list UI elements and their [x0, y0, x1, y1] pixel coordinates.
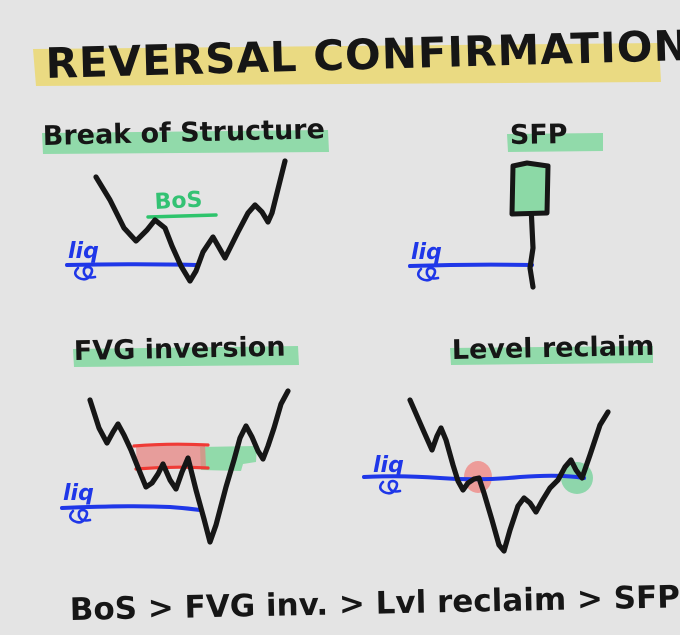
- ranking-text: BoS > FVG inv. > Lvl reclaim > SFP: [69, 579, 680, 628]
- infographic-canvas: REVERSAL CONFIRMATIONS Break of Structur…: [0, 0, 680, 635]
- footer-layer: BoS > FVG inv. > Lvl reclaim > SFP: [0, 0, 680, 635]
